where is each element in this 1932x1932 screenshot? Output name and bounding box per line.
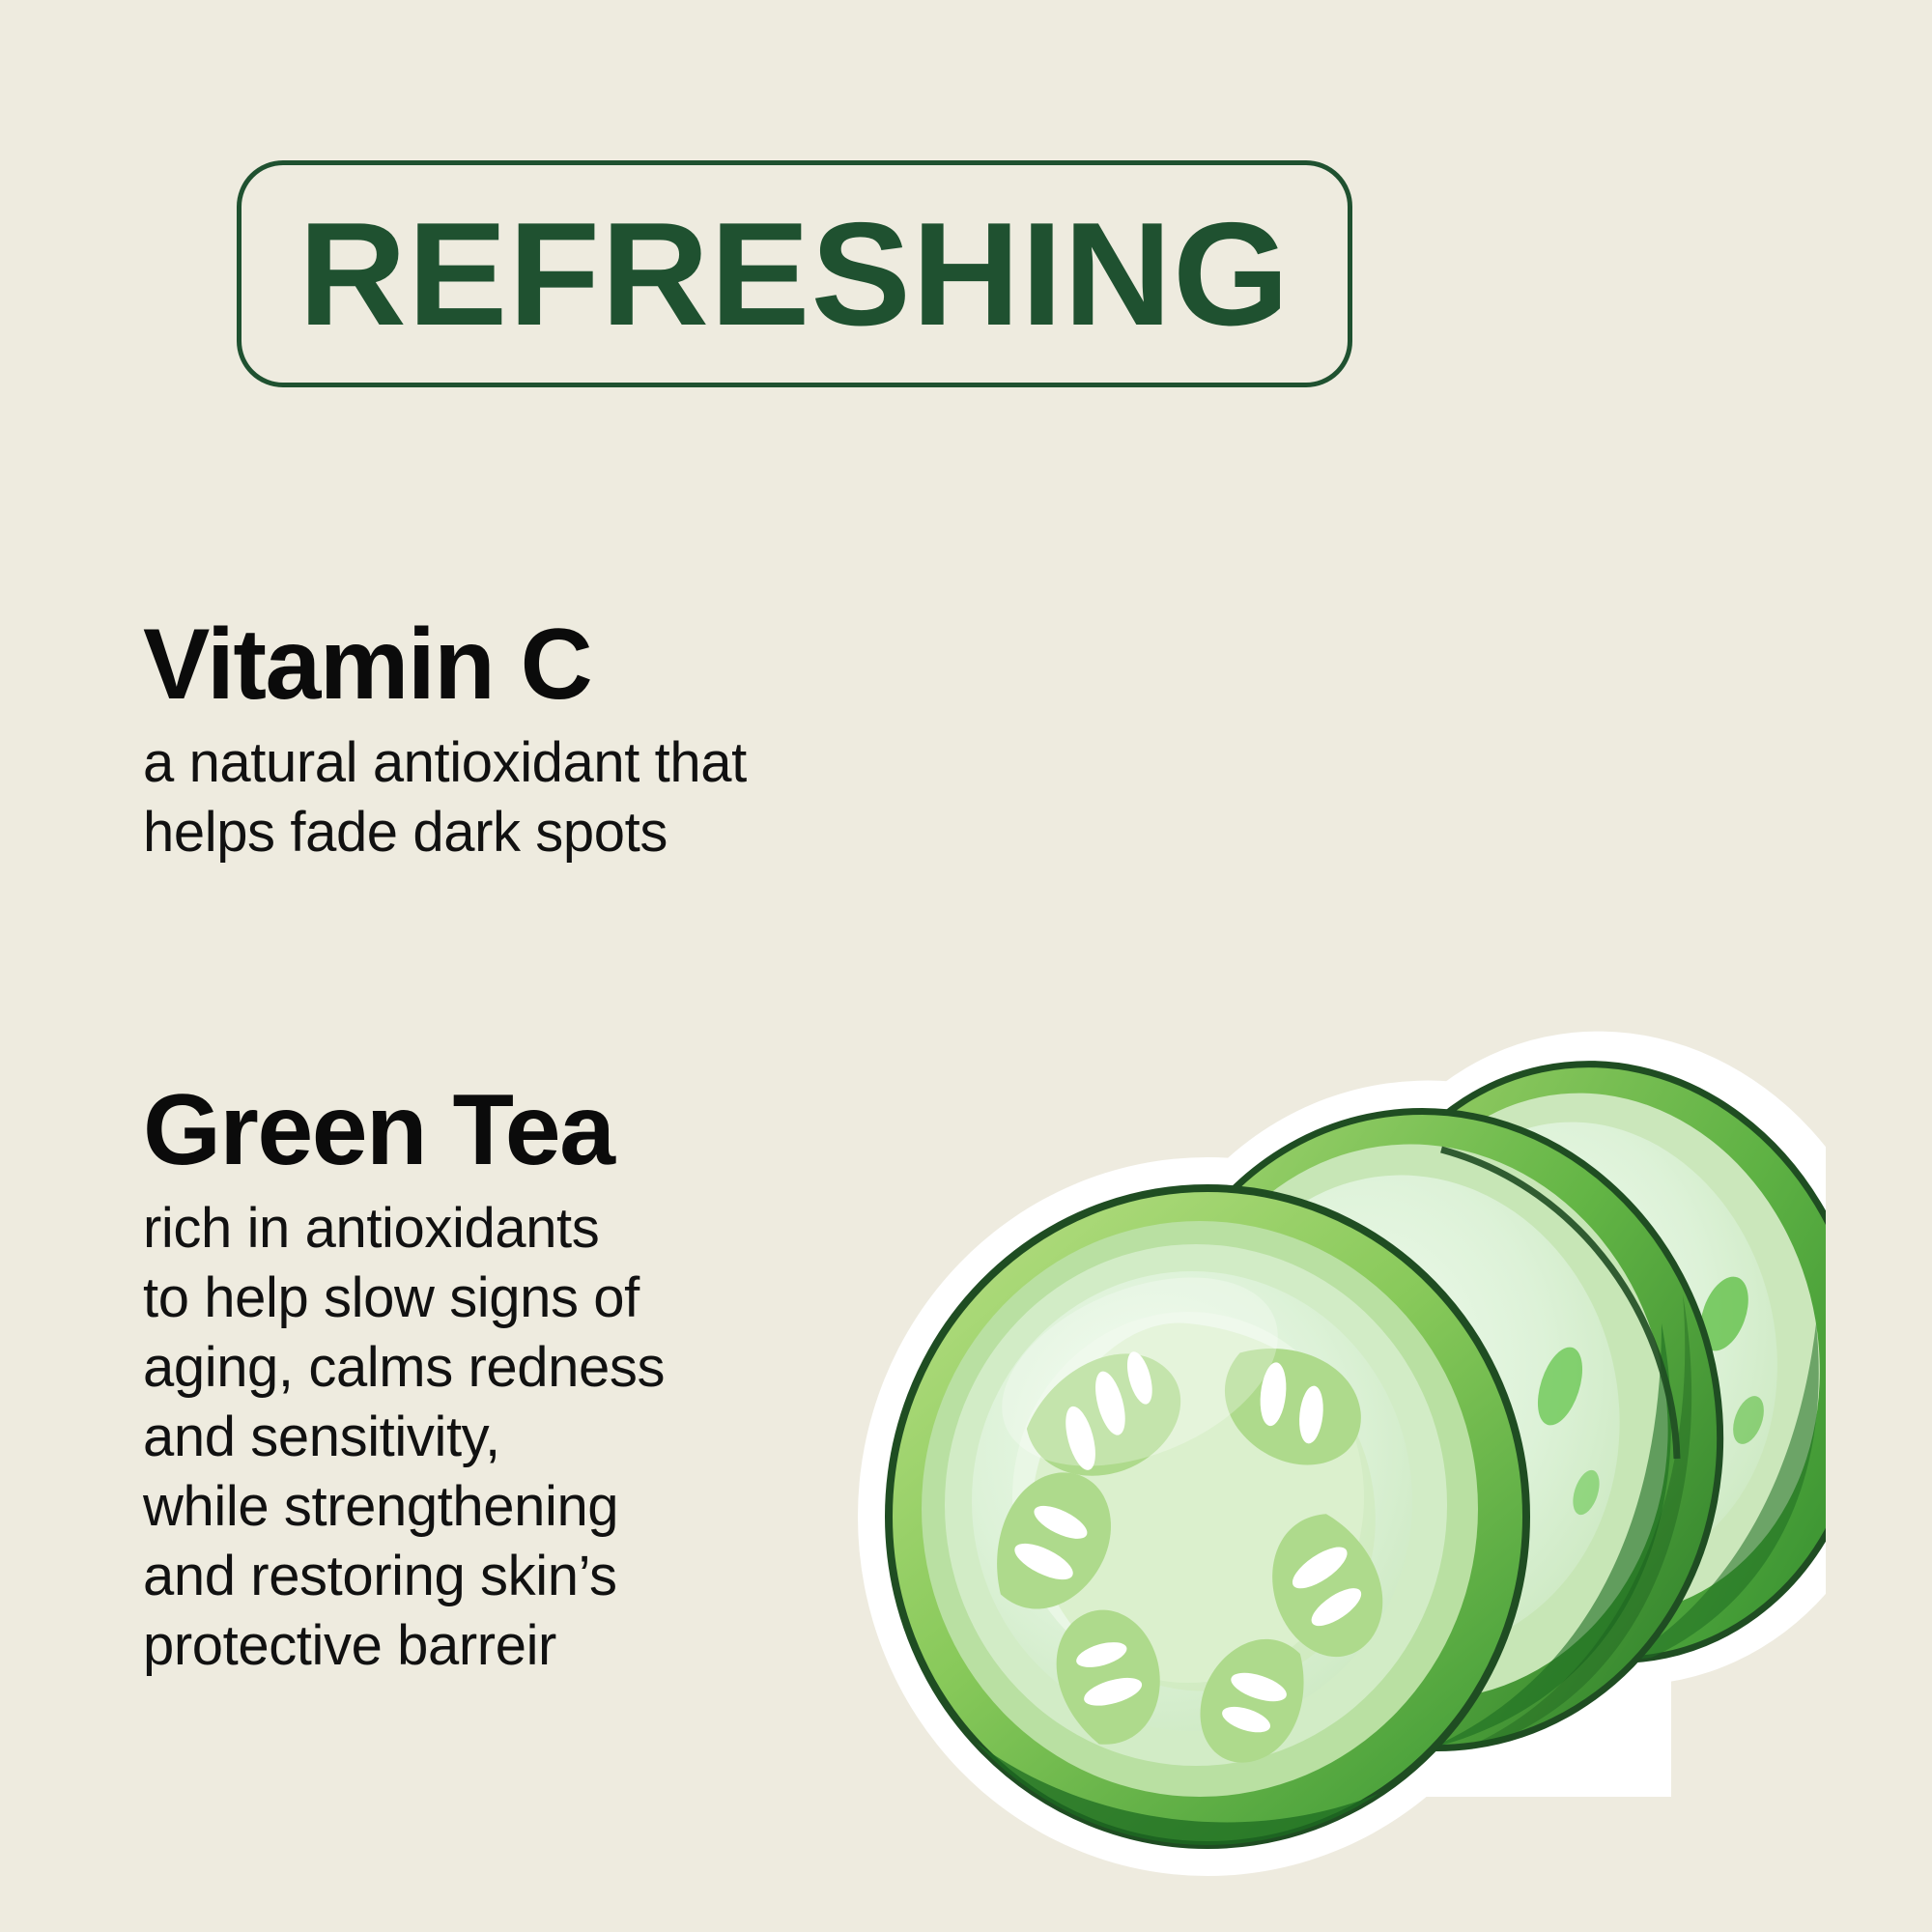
body-line: a natural antioxidant that bbox=[143, 728, 747, 798]
body-line: and restoring skin’s bbox=[143, 1542, 665, 1611]
feature-block-green-tea: Green Tea rich in antioxidants to help s… bbox=[143, 1080, 665, 1681]
body-line: helps fade dark spots bbox=[143, 798, 747, 867]
feature-body-vitamin-c: a natural antioxidant that helps fade da… bbox=[143, 728, 747, 867]
body-line: protective barreir bbox=[143, 1611, 665, 1681]
body-line: while strengthening bbox=[143, 1472, 665, 1542]
feature-heading-green-tea: Green Tea bbox=[143, 1080, 665, 1180]
poster-canvas: REFRESHING Vitamin C a natural antioxida… bbox=[0, 0, 1932, 1932]
refreshing-badge: REFRESHING bbox=[237, 160, 1352, 387]
body-line: to help slow signs of bbox=[143, 1264, 665, 1333]
body-line: and sensitivity, bbox=[143, 1403, 665, 1472]
body-line: rich in antioxidants bbox=[143, 1194, 665, 1264]
feature-block-vitamin-c: Vitamin C a natural antioxidant that hel… bbox=[143, 614, 747, 867]
badge-label: REFRESHING bbox=[298, 201, 1291, 348]
feature-body-green-tea: rich in antioxidants to help slow signs … bbox=[143, 1194, 665, 1681]
cucumber-illustration bbox=[850, 1005, 1826, 1903]
feature-heading-vitamin-c: Vitamin C bbox=[143, 614, 747, 715]
cucumber-slices-icon bbox=[850, 1005, 1826, 1903]
body-line: aging, calms redness bbox=[143, 1333, 665, 1403]
